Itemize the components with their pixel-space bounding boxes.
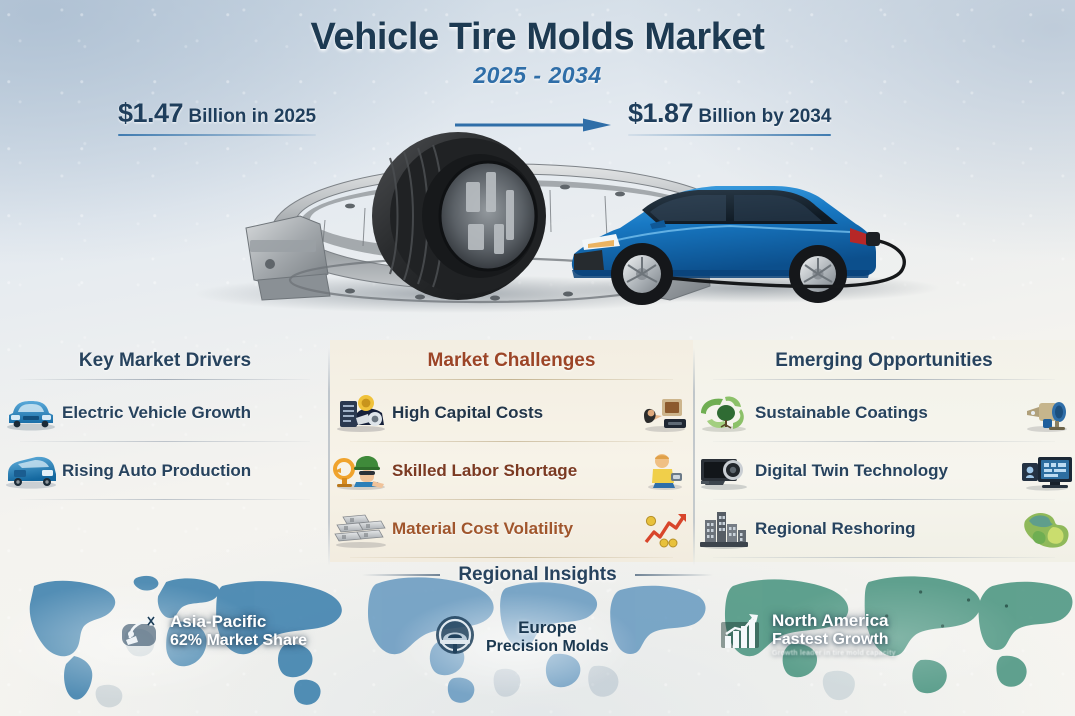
region-name: Asia-Pacific (170, 612, 307, 632)
list-item[interactable]: Electric Vehicle Growth (0, 384, 330, 442)
technician-icon (637, 451, 693, 491)
list-item-label: Rising Auto Production (62, 462, 274, 481)
blue-car-front-icon (0, 395, 62, 431)
panel-heading-drivers: Key Market Drivers (0, 350, 330, 372)
page-subtitle: 2025 - 2034 (0, 62, 1075, 89)
panel-heading-divider (350, 379, 673, 380)
machine-money-icon (330, 393, 392, 433)
list-item-divider (713, 557, 1055, 558)
panel-market-challenges: Market Challenges (330, 340, 693, 562)
list-item-label: Skilled Labor Shortage (392, 462, 637, 481)
list-item[interactable]: Digital Twin Technology (693, 442, 1075, 500)
insight-panels: Key Market Drivers (0, 340, 1075, 562)
region-detail: 62% Market Share (170, 632, 307, 651)
opportunities-list: Sustainable Coatings (693, 384, 1075, 558)
list-item-label: Material Cost Volatility (392, 520, 637, 539)
green-recycle-leaf-icon (693, 393, 755, 433)
infographic-canvas: Vehicle Tire Molds Market 2025 - 2034 $1… (0, 0, 1075, 716)
list-item-divider (350, 557, 673, 558)
list-item[interactable]: Skilled Labor Shortage (330, 442, 693, 500)
list-item-label: Electric Vehicle Growth (62, 404, 274, 423)
list-item[interactable]: Rising Auto Production (0, 442, 330, 500)
drivers-list: Electric Vehicle Growth (0, 384, 330, 500)
precision-mold-badge-icon (432, 612, 478, 663)
end-value-block: $1.87 Billion by 2034 (628, 98, 831, 129)
region-map-icon (1019, 507, 1075, 551)
panel-heading-divider (20, 379, 310, 380)
worker-inspect-icon (637, 393, 693, 433)
heading-text: Regional Insights (444, 564, 630, 586)
panel-heading-opportunities: Emerging Opportunities (693, 350, 1075, 372)
region-text-north-america: North America Fastest Growth Growth lead… (772, 611, 896, 658)
charging-plug-icon (866, 232, 880, 246)
region-text-asia-pacific: Asia-Pacific 62% Market Share (170, 612, 307, 651)
metal-ingots-icon (330, 509, 392, 549)
list-item-label: Digital Twin Technology (755, 462, 1019, 481)
list-item[interactable]: High Capital Costs (330, 384, 693, 442)
panel-emerging-opportunities: Emerging Opportunities (693, 340, 1075, 562)
start-value-block: $1.47 Billion in 2025 (118, 98, 316, 129)
panel-divider-right (693, 348, 695, 566)
region-detail: Fastest Growth (772, 631, 896, 650)
satellite-network-icon (118, 608, 162, 655)
region-block-europe[interactable]: Europe Precision Molds (432, 612, 609, 663)
list-item-label: High Capital Costs (392, 404, 637, 423)
challenges-list: High Capital Costs (330, 384, 693, 558)
region-block-north-america[interactable]: North America Fastest Growth Growth lead… (718, 610, 896, 659)
panel-heading-divider (713, 379, 1055, 380)
regional-insights-heading: Regional Insights (0, 564, 1075, 586)
panel-heading-challenges: Market Challenges (330, 350, 693, 372)
scanner-device-icon (693, 451, 755, 491)
panel-key-market-drivers: Key Market Drivers (0, 340, 330, 562)
tire-mold-and-ev-graphic (150, 128, 940, 313)
factory-buildings-icon (693, 508, 755, 550)
heading-rule-left (362, 574, 440, 576)
regional-insights-section: Regional Insights Asia-Pacific 62% Marke… (0, 560, 1075, 716)
spray-coating-machine-icon (1019, 393, 1075, 433)
region-note: Growth leader in tire mold capacity (772, 650, 896, 658)
page-title: Vehicle Tire Molds Market (0, 16, 1075, 59)
region-name: Europe (486, 618, 609, 638)
end-value: $1.87 (628, 98, 693, 128)
header: Vehicle Tire Molds Market 2025 - 2034 (0, 16, 1075, 89)
list-item[interactable]: Sustainable Coatings (693, 384, 1075, 442)
region-text-europe: Europe Precision Molds (486, 618, 609, 657)
panel-divider-left (328, 348, 330, 566)
start-value: $1.47 (118, 98, 183, 128)
heading-rule-right (635, 574, 713, 576)
bar-chart-growth-icon (718, 610, 764, 659)
list-item[interactable]: Material Cost Volatility (330, 500, 693, 558)
hero-illustration: Tire Molds & EV Tire (150, 128, 940, 308)
region-block-asia-pacific[interactable]: Asia-Pacific 62% Market Share (118, 608, 307, 655)
list-item-label: Sustainable Coatings (755, 404, 1019, 423)
start-value-suffix: Billion in 2025 (188, 106, 316, 127)
region-detail: Precision Molds (486, 638, 609, 657)
end-value-suffix: Billion by 2034 (698, 106, 831, 127)
list-item-label: Regional Reshoring (755, 520, 1019, 539)
tire-icon (372, 132, 546, 300)
monitor-data-icon (1019, 451, 1075, 491)
list-item-divider (20, 499, 310, 500)
blue-car-rear-icon (0, 452, 62, 490)
rising-cost-chart-icon (637, 510, 693, 548)
worker-helmet-icon (330, 451, 392, 491)
region-name: North America (772, 611, 896, 631)
list-item[interactable]: Regional Reshoring (693, 500, 1075, 558)
